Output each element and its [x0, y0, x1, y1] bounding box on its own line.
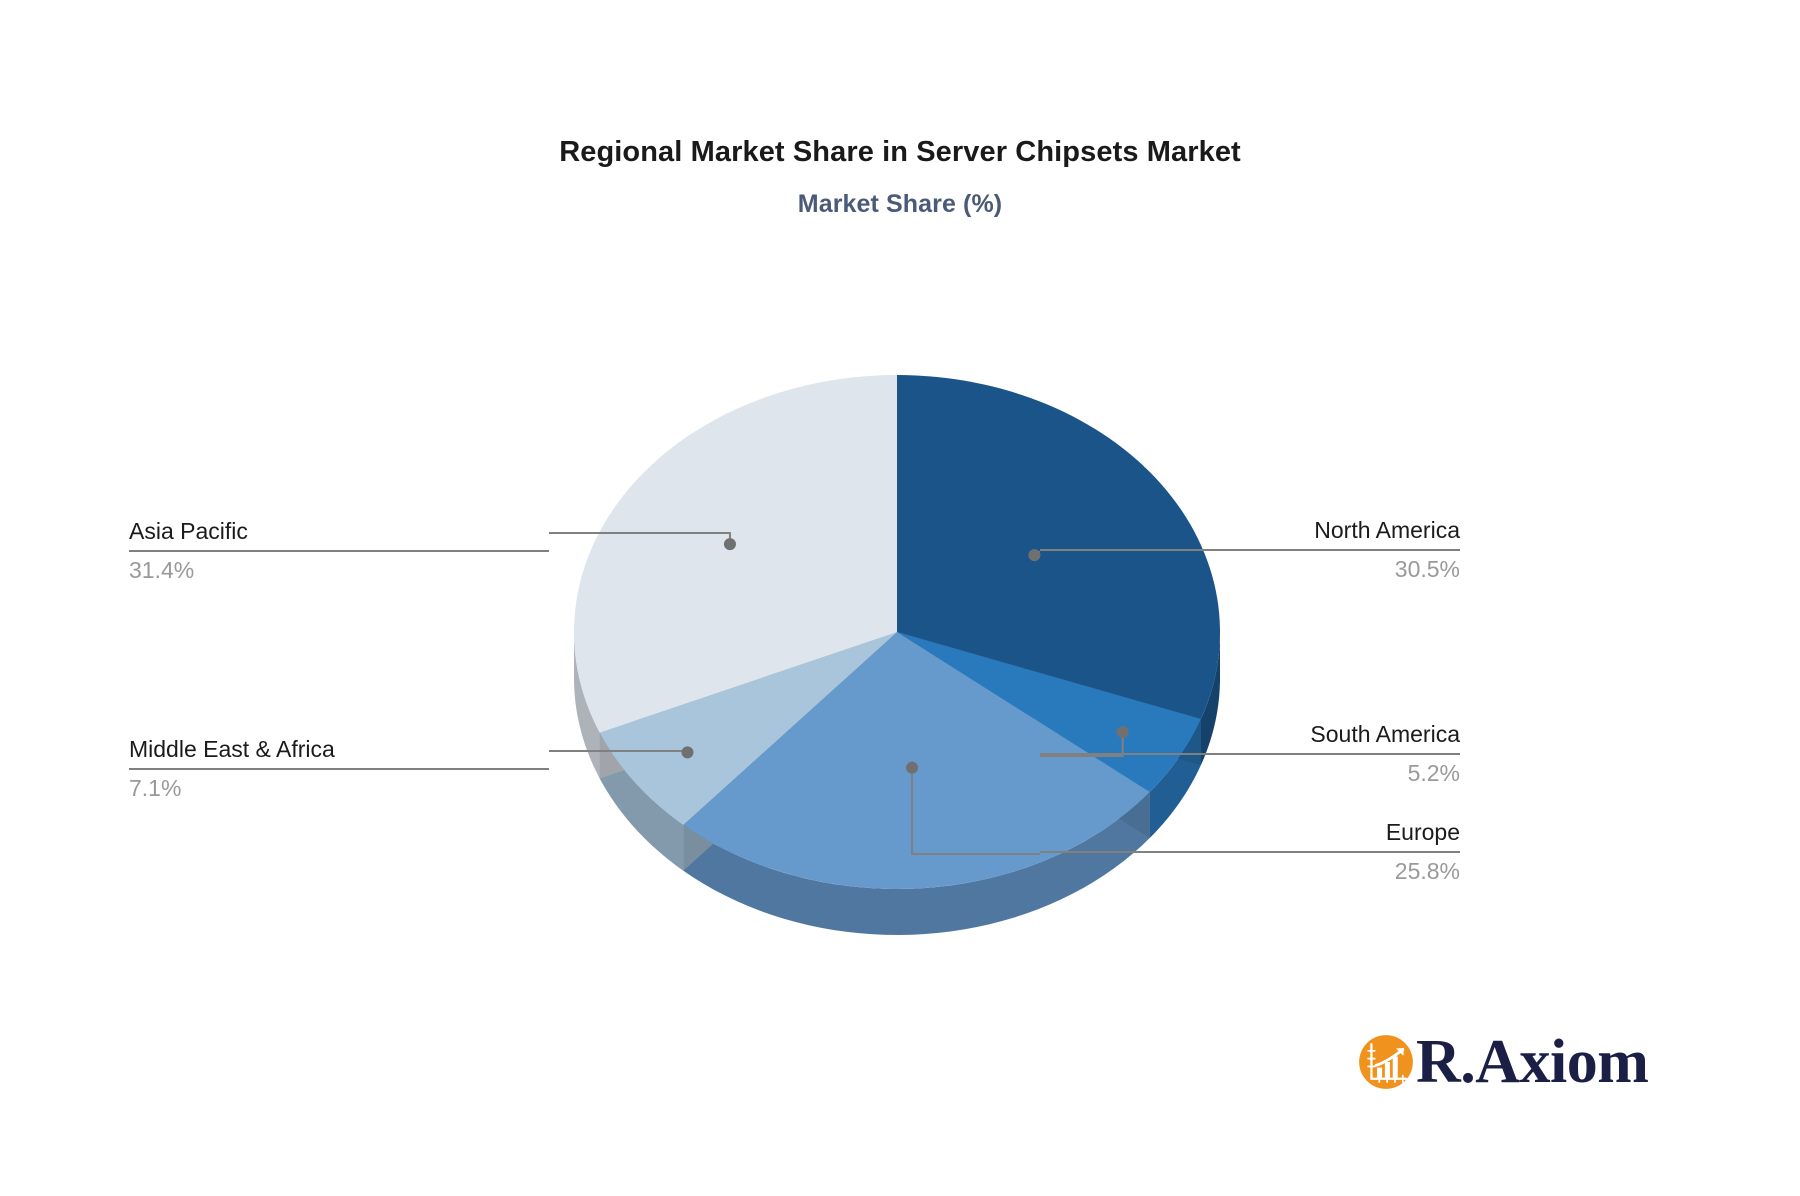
slice-label-north-america: North America 30.5% — [1040, 515, 1460, 584]
slice-label-rule-north-america — [1040, 549, 1460, 551]
slice-label-name-europe: Europe — [1040, 817, 1460, 847]
slice-label-rule-south-america — [1040, 753, 1460, 755]
pie-slices — [574, 375, 1220, 889]
brand-name: R.Axiom — [1416, 1031, 1648, 1093]
slice-label-rule-asia-pacific — [129, 550, 549, 552]
slice-label-name-north-america: North America — [1040, 515, 1460, 545]
leader-dot — [1028, 549, 1040, 561]
slice-label-middle-east-africa: Middle East & Africa 7.1% — [129, 734, 549, 803]
slice-label-name-middle-east-africa: Middle East & Africa — [129, 734, 549, 764]
slice-label-south-america: South America 5.2% — [1040, 719, 1460, 788]
slice-label-rule-europe — [1040, 851, 1460, 853]
slice-label-name-south-america: South America — [1040, 719, 1460, 749]
leader-dot — [681, 746, 693, 758]
slice-label-europe: Europe 25.8% — [1040, 817, 1460, 886]
slice-label-value-europe: 25.8% — [1040, 856, 1460, 886]
slice-label-asia-pacific: Asia Pacific 31.4% — [129, 516, 549, 585]
slice-label-name-asia-pacific: Asia Pacific — [129, 516, 549, 546]
slice-label-value-south-america: 5.2% — [1040, 758, 1460, 788]
leader-dot — [906, 762, 918, 774]
slice-label-value-north-america: 30.5% — [1040, 554, 1460, 584]
chart-growth-icon — [1358, 1034, 1414, 1090]
slice-label-value-asia-pacific: 31.4% — [129, 555, 549, 585]
slice-label-value-middle-east-africa: 7.1% — [129, 773, 549, 803]
brand-logo: R.Axiom — [1358, 1026, 1648, 1098]
leader-dot — [724, 538, 736, 550]
slice-label-rule-middle-east-africa — [129, 768, 549, 770]
pie-chart — [0, 0, 1800, 1196]
